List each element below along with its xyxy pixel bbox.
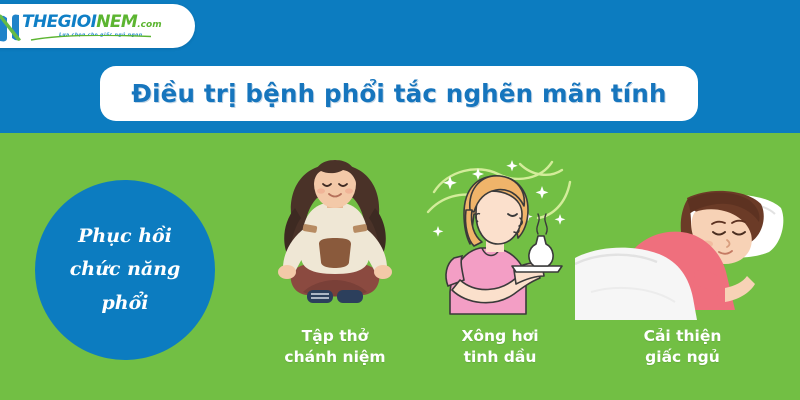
badge-line-2: chức năng: [70, 253, 181, 286]
recovery-circle-badge: Phục hồi chức năng phổi: [35, 180, 215, 360]
item-meditation-caption: Tập thở chánh niệm: [284, 326, 385, 369]
caption-line-2: tinh dầu: [461, 347, 538, 368]
header-bar: THEGIOINEM.com Lựa chọn cho giấc ngủ ngo…: [0, 0, 800, 133]
item-steam: Xông hơi tinh dầu: [420, 152, 580, 369]
thegioinem-n-logo-icon: [0, 12, 30, 44]
woman-sleeping-pillow-illustration: [575, 152, 790, 320]
woman-meditating-lotus-illustration: [245, 152, 425, 320]
caption-line-1: Xông hơi: [461, 326, 538, 347]
logo-pill[interactable]: THEGIOINEM.com Lựa chọn cho giấc ngủ ngo…: [0, 4, 195, 48]
item-sleep: Cải thiện giấc ngủ: [575, 152, 790, 369]
item-meditation: Tập thở chánh niệm: [245, 152, 425, 369]
badge-line-1: Phục hồi: [78, 220, 172, 253]
page-title: Điều trị bệnh phổi tắc nghẽn mãn tính: [131, 79, 666, 108]
caption-line-2: giấc ngủ: [644, 347, 722, 368]
infographic-root: THEGIOINEM.com Lựa chọn cho giấc ngủ ngo…: [0, 0, 800, 400]
caption-line-2: chánh niệm: [284, 347, 385, 368]
title-banner: Điều trị bệnh phổi tắc nghẽn mãn tính: [100, 66, 698, 121]
badge-line-3: phổi: [102, 287, 149, 320]
logo-word-part1: THEGIOI: [22, 12, 96, 32]
logo-swoosh-icon: [30, 35, 152, 41]
item-steam-caption: Xông hơi tinh dầu: [461, 326, 538, 369]
caption-line-1: Cải thiện: [644, 326, 722, 347]
item-sleep-caption: Cải thiện giấc ngủ: [644, 326, 722, 369]
logo-word-suffix: .com: [137, 20, 161, 30]
caption-line-1: Tập thở: [284, 326, 385, 347]
woman-essential-oil-diffuser-illustration: [420, 152, 580, 320]
logo-word-part2: NEM: [96, 12, 137, 32]
